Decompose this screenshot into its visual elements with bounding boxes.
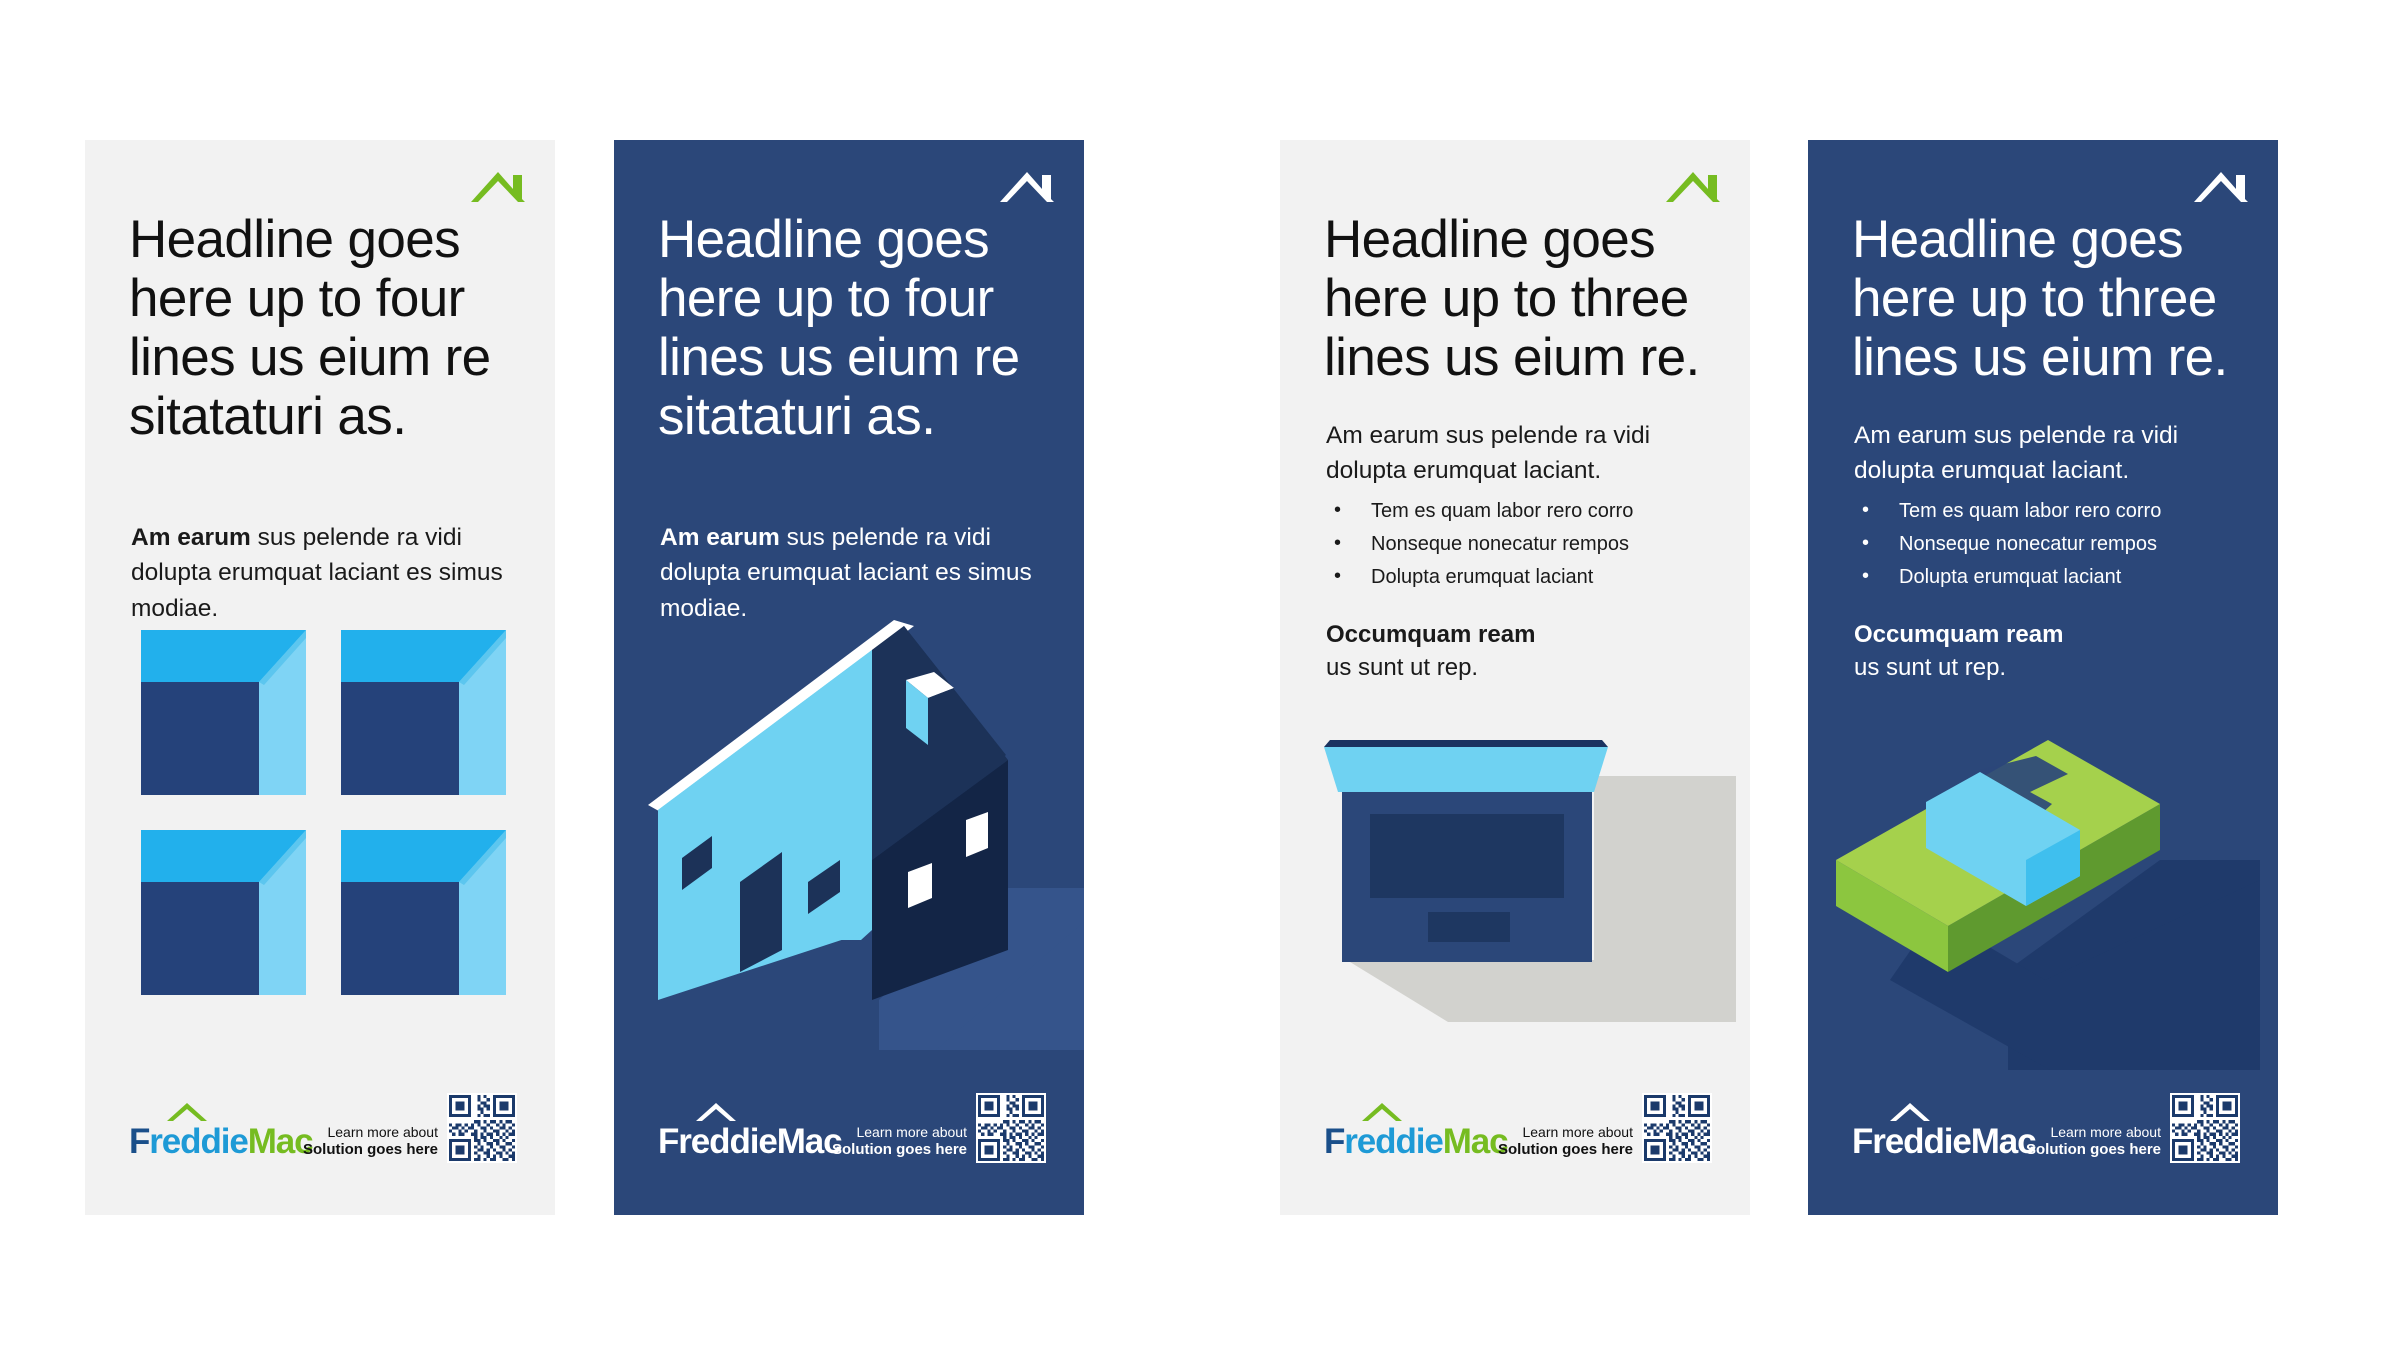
list-item: Tem es quam labor rero corro (1332, 498, 1710, 525)
qr-caption: Learn more about Solution goes here (1498, 1124, 1633, 1163)
logo-roof-icon (1888, 1101, 1932, 1123)
intro-paragraph: Am earum sus pelende ra vidi dolupta eru… (1326, 418, 1706, 489)
closing-text: us sunt ut rep. (1326, 654, 1478, 681)
qr-caption-line1: Learn more about (1498, 1124, 1633, 1141)
qr-caption-line1: Learn more about (832, 1124, 967, 1141)
roof-icon (467, 162, 529, 208)
poster-panel-4[interactable]: Headline goes here up to three lines us … (1808, 140, 2278, 1215)
roof-icon (996, 162, 1058, 208)
bullet-list: Tem es quam labor rero corro Nonseque no… (1860, 498, 2238, 596)
logo-roof-icon (694, 1101, 738, 1123)
qr-caption: Learn more about Solution goes here (2026, 1124, 2161, 1163)
intro-bold: Am earum (660, 524, 780, 551)
list-item: Tem es quam labor rero corro (1860, 498, 2238, 525)
qr-block[interactable]: Learn more about Solution goes here (832, 1093, 1046, 1163)
poster-panel-2[interactable]: Headline goes here up to four lines us e… (614, 140, 1084, 1215)
logo-text-reddie: reddie (1344, 1122, 1442, 1161)
qr-caption-line2: Solution goes here (2026, 1141, 2161, 1159)
qr-code-icon[interactable] (1642, 1093, 1712, 1163)
intro-rest: Am earum sus pelende ra vidi dolupta eru… (1854, 422, 2178, 484)
house-illustration (636, 620, 1084, 1050)
qr-code-icon[interactable] (2170, 1093, 2240, 1163)
page-title: Headline goes here up to four lines us e… (129, 210, 519, 446)
panel-footer: FreddieMac Learn more about Solution goe… (1808, 1065, 2278, 1215)
logo-text-reddie: reddie (1872, 1122, 1970, 1161)
closing-text: us sunt ut rep. (1854, 654, 2006, 681)
logo-wordmark: FreddieMac (658, 1124, 842, 1159)
panel-footer: FreddieMac Learn more about Solution goe… (85, 1065, 555, 1215)
logo-roof-icon (1360, 1101, 1404, 1123)
logo-wordmark: FreddieMac (129, 1124, 313, 1159)
qr-caption-line1: Learn more about (2026, 1124, 2161, 1141)
panel-footer: FreddieMac Learn more about Solution goe… (1280, 1065, 1750, 1215)
page-title: Headline goes here up to four lines us e… (658, 210, 1048, 446)
qr-caption-line2: Solution goes here (1498, 1141, 1633, 1159)
bullet-list: Tem es quam labor rero corro Nonseque no… (1332, 498, 1710, 596)
qr-block[interactable]: Learn more about Solution goes here (2026, 1093, 2240, 1163)
qr-caption-line1: Learn more about (303, 1124, 438, 1141)
logo-letter-f: F (658, 1122, 678, 1161)
intro-paragraph: Am earum sus pelende ra vidi dolupta eru… (660, 520, 1040, 626)
intro-rest: Am earum sus pelende ra vidi dolupta eru… (1326, 422, 1650, 484)
qr-caption: Learn more about Solution goes here (303, 1124, 438, 1163)
qr-code-icon[interactable] (976, 1093, 1046, 1163)
poster-panel-1[interactable]: Headline goes here up to four lines us e… (85, 140, 555, 1215)
page-title: Headline goes here up to three lines us … (1852, 210, 2242, 387)
logo-letter-f: F (1324, 1122, 1344, 1161)
logo-text-reddie: reddie (678, 1122, 776, 1161)
list-item: Dolupta erumquat laciant (1332, 564, 1710, 591)
poster-panel-3[interactable]: Headline goes here up to three lines us … (1280, 140, 1750, 1215)
logo-text-reddie: reddie (149, 1122, 247, 1161)
panel-footer: FreddieMac Learn more about Solution goe… (614, 1065, 1084, 1215)
qr-code-icon[interactable] (447, 1093, 517, 1163)
intro-paragraph: Am earum sus pelende ra vidi dolupta eru… (131, 520, 511, 626)
logo-wordmark: FreddieMac (1852, 1124, 2036, 1159)
qr-caption-line2: Solution goes here (832, 1141, 967, 1159)
four-boxes-illustration (141, 630, 521, 1010)
logo-roof-icon (165, 1101, 209, 1123)
roof-icon (2190, 162, 2252, 208)
closing-paragraph: Occumquam ream us sunt ut rep. (1854, 618, 2238, 684)
list-item: Nonseque nonecatur rempos (1860, 531, 2238, 558)
closing-lead: Occumquam ream (1854, 618, 2238, 651)
closing-paragraph: Occumquam ream us sunt ut rep. (1326, 618, 1710, 684)
qr-block[interactable]: Learn more about Solution goes here (303, 1093, 517, 1163)
closing-lead: Occumquam ream (1326, 618, 1710, 651)
logo-wordmark: FreddieMac (1324, 1124, 1508, 1159)
qr-caption-line2: Solution goes here (303, 1141, 438, 1159)
list-item: Dolupta erumquat laciant (1860, 564, 2238, 591)
qr-block[interactable]: Learn more about Solution goes here (1498, 1093, 1712, 1163)
list-item: Nonseque nonecatur rempos (1332, 531, 1710, 558)
page-title: Headline goes here up to three lines us … (1324, 210, 1714, 387)
laptop-illustration (1316, 730, 1736, 1070)
logo-letter-f: F (129, 1122, 149, 1161)
intro-bold: Am earum (131, 524, 251, 551)
intro-paragraph: Am earum sus pelende ra vidi dolupta eru… (1854, 418, 2234, 489)
money-illustration (1830, 740, 2260, 1070)
logo-letter-f: F (1852, 1122, 1872, 1161)
roof-icon (1662, 162, 1724, 208)
qr-caption: Learn more about Solution goes here (832, 1124, 967, 1163)
poster-sheet: Headline goes here up to four lines us e… (0, 0, 2400, 1350)
